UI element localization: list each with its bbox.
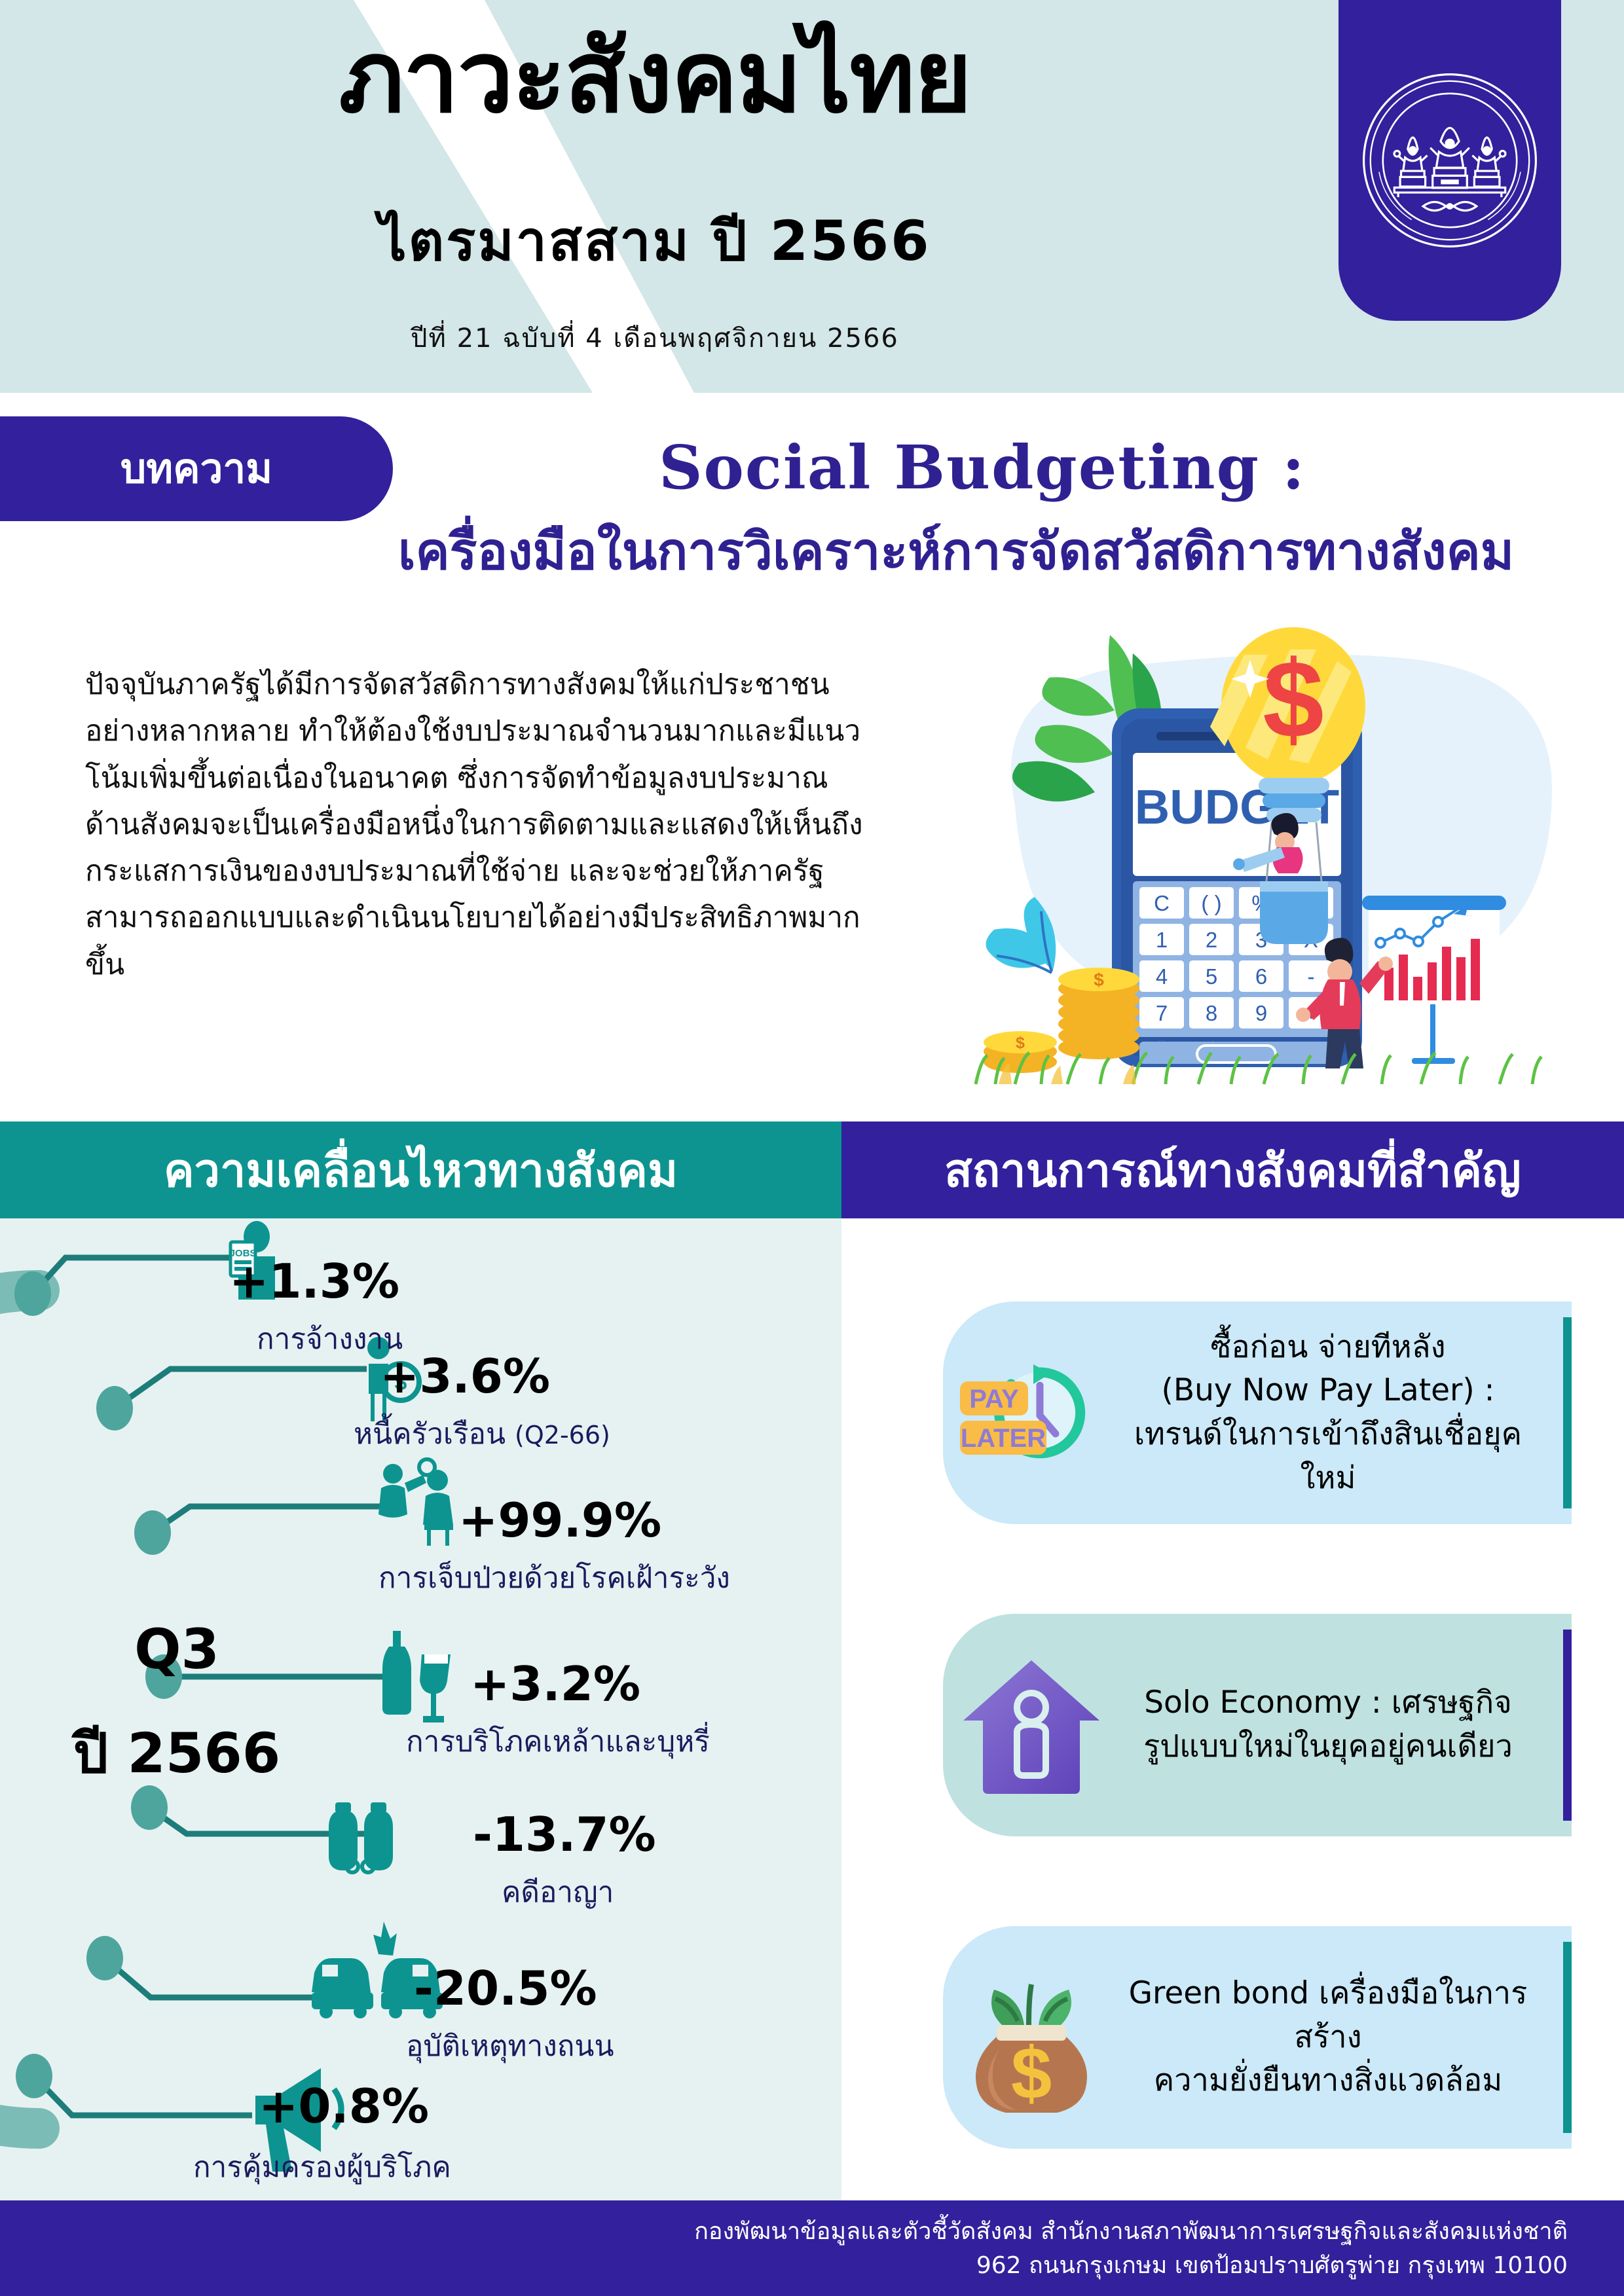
- svg-text:6: 6: [1255, 964, 1267, 989]
- article-section: บทความ Social Budgeting : เครื่องมือในกา…: [0, 393, 1624, 1113]
- nesdc-emblem-icon: [1354, 65, 1545, 256]
- situation-card-bnpl[interactable]: PAY LATER ซื้อก่อน จ่ายทีหลัง (Buy Now P…: [943, 1302, 1572, 1524]
- logo-panel: [1338, 0, 1561, 321]
- metric-value-4: -13.7%: [473, 1807, 656, 1862]
- article-title-en: Social Budgeting :: [367, 432, 1598, 503]
- svg-text:$: $: [1263, 638, 1323, 761]
- section-header-social-movement: ความเคลื่อนไหวทางสังคม: [0, 1121, 841, 1218]
- svg-text:4: 4: [1156, 964, 1168, 989]
- metric-label-6: การคุ้มครองผู้บริโภค: [193, 2144, 451, 2190]
- section-header-right-label: สถานการณ์ทางสังคมที่สำคัญ: [944, 1134, 1521, 1207]
- situation-card-bnpl-line2: (Buy Now Pay Later) :: [1120, 1369, 1536, 1413]
- situation-card-green-bond[interactable]: $ Green bond เครื่องมือในการสร้าง ความยั…: [943, 1926, 1572, 2149]
- budget-calculator-illustration-icon: BUDGET C( )%<< 123X 456- 789+ 0/=: [936, 589, 1591, 1087]
- svg-text:8: 8: [1206, 1001, 1217, 1025]
- svg-text:$: $: [1016, 1034, 1025, 1052]
- svg-text:( ): ( ): [1201, 891, 1221, 915]
- situation-card-bnpl-rule: [1563, 1317, 1572, 1508]
- metric-label-1: หนี้ครัวเรือน (Q2-66): [354, 1411, 610, 1457]
- metric-value-6: +0.8%: [259, 2079, 429, 2134]
- svg-text:7: 7: [1156, 1001, 1168, 1025]
- article-body-text: ปัจจุบันภาครัฐได้มีการจัดสวัสดิการทางสัง…: [85, 661, 871, 988]
- situation-card-green-bond-rule: [1563, 1942, 1572, 2133]
- metric-value-0: +1.3%: [229, 1254, 399, 1309]
- metric-label-1-sub: (Q2-66): [515, 1421, 610, 1449]
- page-footer: กองพัฒนาข้อมูลและตัวชี้วัดสังคม สำนักงาน…: [0, 2200, 1624, 2296]
- article-badge-label: บทความ: [120, 437, 272, 501]
- footer-line-2: 962 ถนนกรุงเกษม เขตป้อมปราบศัตรูพ่าย กรุ…: [0, 2249, 1568, 2283]
- bottle-glass-icon: [382, 1631, 451, 1722]
- svg-text:1: 1: [1156, 928, 1168, 952]
- pay-later-clock-icon: PAY LATER: [956, 1347, 1107, 1478]
- chart-center-label-quarter: Q3: [98, 1617, 255, 1681]
- metric-value-2: +99.9%: [458, 1493, 661, 1548]
- metric-label-4: คดีอาญา: [502, 1869, 614, 1915]
- issue-info: ปีที่ 21 ฉบับที่ 4 เดือนพฤศจิกายน 2566: [0, 317, 1310, 359]
- chart-center-label-year: ปี 2566: [72, 1709, 282, 1796]
- metric-value-3: +3.2%: [470, 1656, 640, 1711]
- metric-label-3: การบริโภคเหล้าและบุหรี่: [406, 1719, 710, 1764]
- patient-care-icon: [378, 1459, 453, 1546]
- money-bag-sprout-icon: $: [956, 1962, 1107, 2113]
- svg-text:$: $: [1094, 970, 1104, 990]
- budget-illustration: BUDGET C( )%<< 123X 456- 789+ 0/=: [936, 589, 1591, 1087]
- svg-text:LATER: LATER: [961, 1424, 1046, 1453]
- handcuffs-icon: [329, 1802, 393, 1872]
- situation-card-solo-economy-rule: [1563, 1630, 1572, 1821]
- svg-text:$: $: [1011, 2032, 1052, 2113]
- pay-later-clock-icon-box: PAY LATER: [943, 1302, 1120, 1524]
- svg-text:5: 5: [1206, 964, 1217, 989]
- page-title: ภาวะสังคมไทย: [0, 25, 1310, 130]
- svg-text:C: C: [1154, 891, 1170, 915]
- house-person-icon-box: [943, 1614, 1120, 1836]
- svg-text:9: 9: [1255, 1001, 1267, 1025]
- money-bag-sprout-icon-box: $: [943, 1926, 1120, 2149]
- svg-text:PAY: PAY: [969, 1385, 1019, 1413]
- section-header-key-situations: สถานการณ์ทางสังคมที่สำคัญ: [841, 1121, 1624, 1218]
- house-person-icon: [959, 1656, 1103, 1794]
- metric-value-5: -20.5%: [414, 1961, 597, 2016]
- situation-card-green-bond-line2: ความยั่งยืนทางสิ่งแวดล้อม: [1120, 2059, 1536, 2103]
- svg-text:2: 2: [1206, 928, 1217, 952]
- situation-card-solo-economy-line1: Solo Economy : เศรษฐกิจ: [1120, 1681, 1536, 1725]
- metric-label-1-main: หนี้ครัวเรือน: [354, 1417, 515, 1451]
- metric-label-2: การเจ็บป่วยด้วยโรคเฝ้าระวัง: [378, 1555, 730, 1601]
- svg-text:-: -: [1308, 964, 1315, 989]
- situation-card-bnpl-line3: เทรนด์ในการเข้าถึงสินเชื่อยุคใหม่: [1120, 1413, 1536, 1500]
- footer-line-1: กองพัฒนาข้อมูลและตัวชี้วัดสังคม สำนักงาน…: [0, 2215, 1568, 2249]
- page-subtitle: ไตรมาสสาม ปี 2566: [0, 196, 1310, 284]
- situation-card-solo-economy-text: Solo Economy : เศรษฐกิจ รูปแบบใหม่ในยุคอ…: [1120, 1681, 1572, 1768]
- situation-card-bnpl-text: ซื้อก่อน จ่ายทีหลัง (Buy Now Pay Later) …: [1120, 1326, 1572, 1501]
- section-header-left-label: ความเคลื่อนไหวทางสังคม: [164, 1134, 678, 1207]
- page-header: ภาวะสังคมไทย ไตรมาสสาม ปี 2566 ปีที่ 21 …: [0, 0, 1624, 393]
- metric-label-5: อุบัติเหตุทางถนน: [406, 2023, 614, 2069]
- situation-card-green-bond-text: Green bond เครื่องมือในการสร้าง ความยั่ง…: [1120, 1972, 1572, 2103]
- situation-card-green-bond-line1: Green bond เครื่องมือในการสร้าง: [1120, 1972, 1536, 2059]
- article-title-th: เครื่องมือในการวิเคราะห์การจัดสวัสดิการท…: [314, 511, 1598, 592]
- situation-card-solo-economy[interactable]: Solo Economy : เศรษฐกิจ รูปแบบใหม่ในยุคอ…: [943, 1614, 1572, 1836]
- situation-card-bnpl-line1: ซื้อก่อน จ่ายทีหลัง: [1120, 1326, 1536, 1370]
- article-badge: บทความ: [0, 416, 393, 521]
- situation-card-solo-economy-line2: รูปแบบใหม่ในยุคอยู่คนเดียว: [1120, 1725, 1536, 1769]
- metric-value-1: +3.6%: [380, 1349, 550, 1404]
